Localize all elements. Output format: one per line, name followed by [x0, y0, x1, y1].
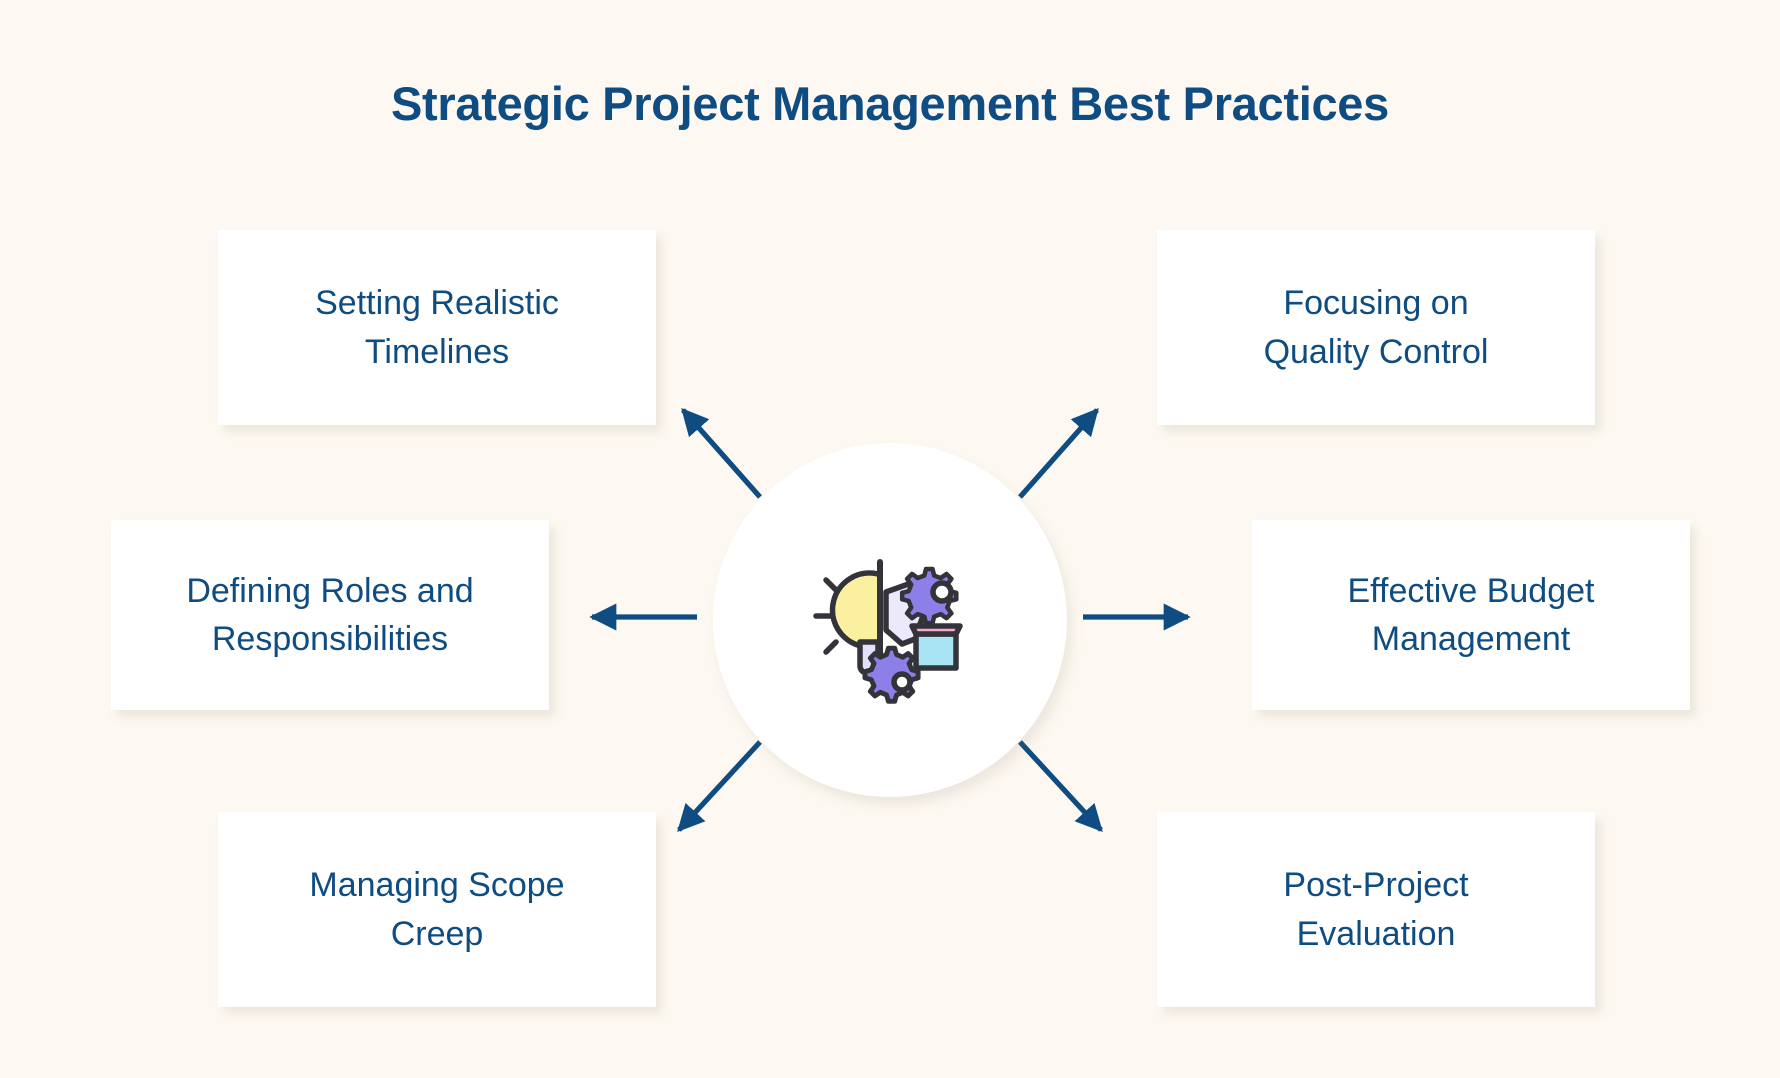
- arrow-to-managing-scope-creep: [679, 742, 760, 830]
- practice-label: Managing Scope Creep: [309, 861, 564, 958]
- page-title: Strategic Project Management Best Practi…: [0, 78, 1780, 130]
- practice-label: Focusing on Quality Control: [1264, 279, 1489, 376]
- arrow-to-focusing-quality-control: [1020, 410, 1097, 497]
- infographic-canvas: Strategic Project Management Best Practi…: [0, 0, 1780, 1078]
- arrow-to-post-project-evaluation: [1020, 742, 1101, 830]
- practice-card-managing-scope-creep[interactable]: Managing Scope Creep: [218, 812, 656, 1007]
- practice-card-effective-budget-management[interactable]: Effective Budget Management: [1252, 520, 1690, 710]
- practice-label: Setting Realistic Timelines: [315, 279, 559, 376]
- practice-card-focusing-quality-control[interactable]: Focusing on Quality Control: [1157, 230, 1595, 425]
- practice-label: Effective Budget Management: [1348, 567, 1595, 664]
- arrow-to-setting-realistic-timelines: [683, 410, 760, 497]
- practice-card-defining-roles[interactable]: Defining Roles and Responsibilities: [111, 520, 549, 710]
- lightbulb-gears-icon: [790, 530, 990, 710]
- practice-card-setting-realistic-timelines[interactable]: Setting Realistic Timelines: [218, 230, 656, 425]
- practice-card-post-project-evaluation[interactable]: Post-Project Evaluation: [1157, 812, 1595, 1007]
- practice-label: Post-Project Evaluation: [1283, 861, 1468, 958]
- practice-label: Defining Roles and Responsibilities: [186, 567, 473, 664]
- center-hub: [713, 443, 1067, 797]
